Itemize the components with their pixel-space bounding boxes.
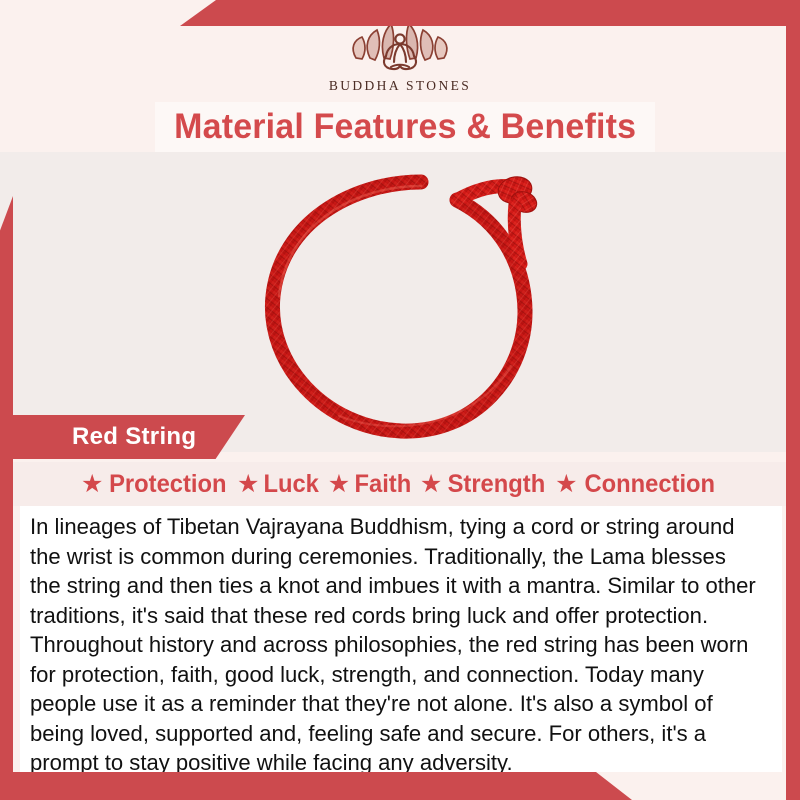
features-row: ★ Protection ★ Luck ★ Faith ★ Strength ★… — [13, 462, 786, 506]
star-icon: ★ — [328, 472, 350, 497]
frame-left-bar — [0, 196, 13, 772]
feature-item: ★ Faith — [328, 470, 413, 499]
feature-item: ★ Connection — [555, 470, 718, 499]
frame-right-bar — [786, 0, 800, 800]
red-string-ribbon: Red String — [0, 415, 245, 459]
feature-label: Connection — [584, 470, 715, 499]
feature-label: Faith — [355, 470, 412, 499]
brand-name: BUDDHA STONES — [329, 78, 471, 94]
star-icon: ★ — [237, 472, 259, 497]
feature-label: Luck — [264, 470, 319, 499]
star-icon: ★ — [81, 472, 103, 497]
body-panel: In lineages of Tibetan Vajrayana Buddhis… — [20, 506, 782, 772]
feature-label: Strength — [448, 470, 546, 499]
feature-item: ★ Strength — [420, 470, 548, 499]
star-icon: ★ — [420, 472, 442, 497]
lotus-meditation-figure-logo-icon — [344, 18, 456, 76]
ribbon-label: Red String — [72, 423, 196, 451]
page-title: Material Features & Benefits — [174, 107, 636, 147]
brand-logo: BUDDHA STONES — [0, 18, 800, 100]
infographic-poster: BUDDHA STONES Material Features & Benefi… — [0, 0, 800, 800]
body-paragraph: In lineages of Tibetan Vajrayana Buddhis… — [30, 512, 757, 778]
feature-item: ★ Luck — [237, 470, 321, 499]
product-photo-red-string-bracelet — [243, 160, 573, 452]
star-icon: ★ — [555, 472, 577, 497]
feature-label: Protection — [109, 470, 226, 499]
title-band: Material Features & Benefits — [155, 102, 655, 152]
feature-item: ★ Protection — [81, 470, 230, 499]
